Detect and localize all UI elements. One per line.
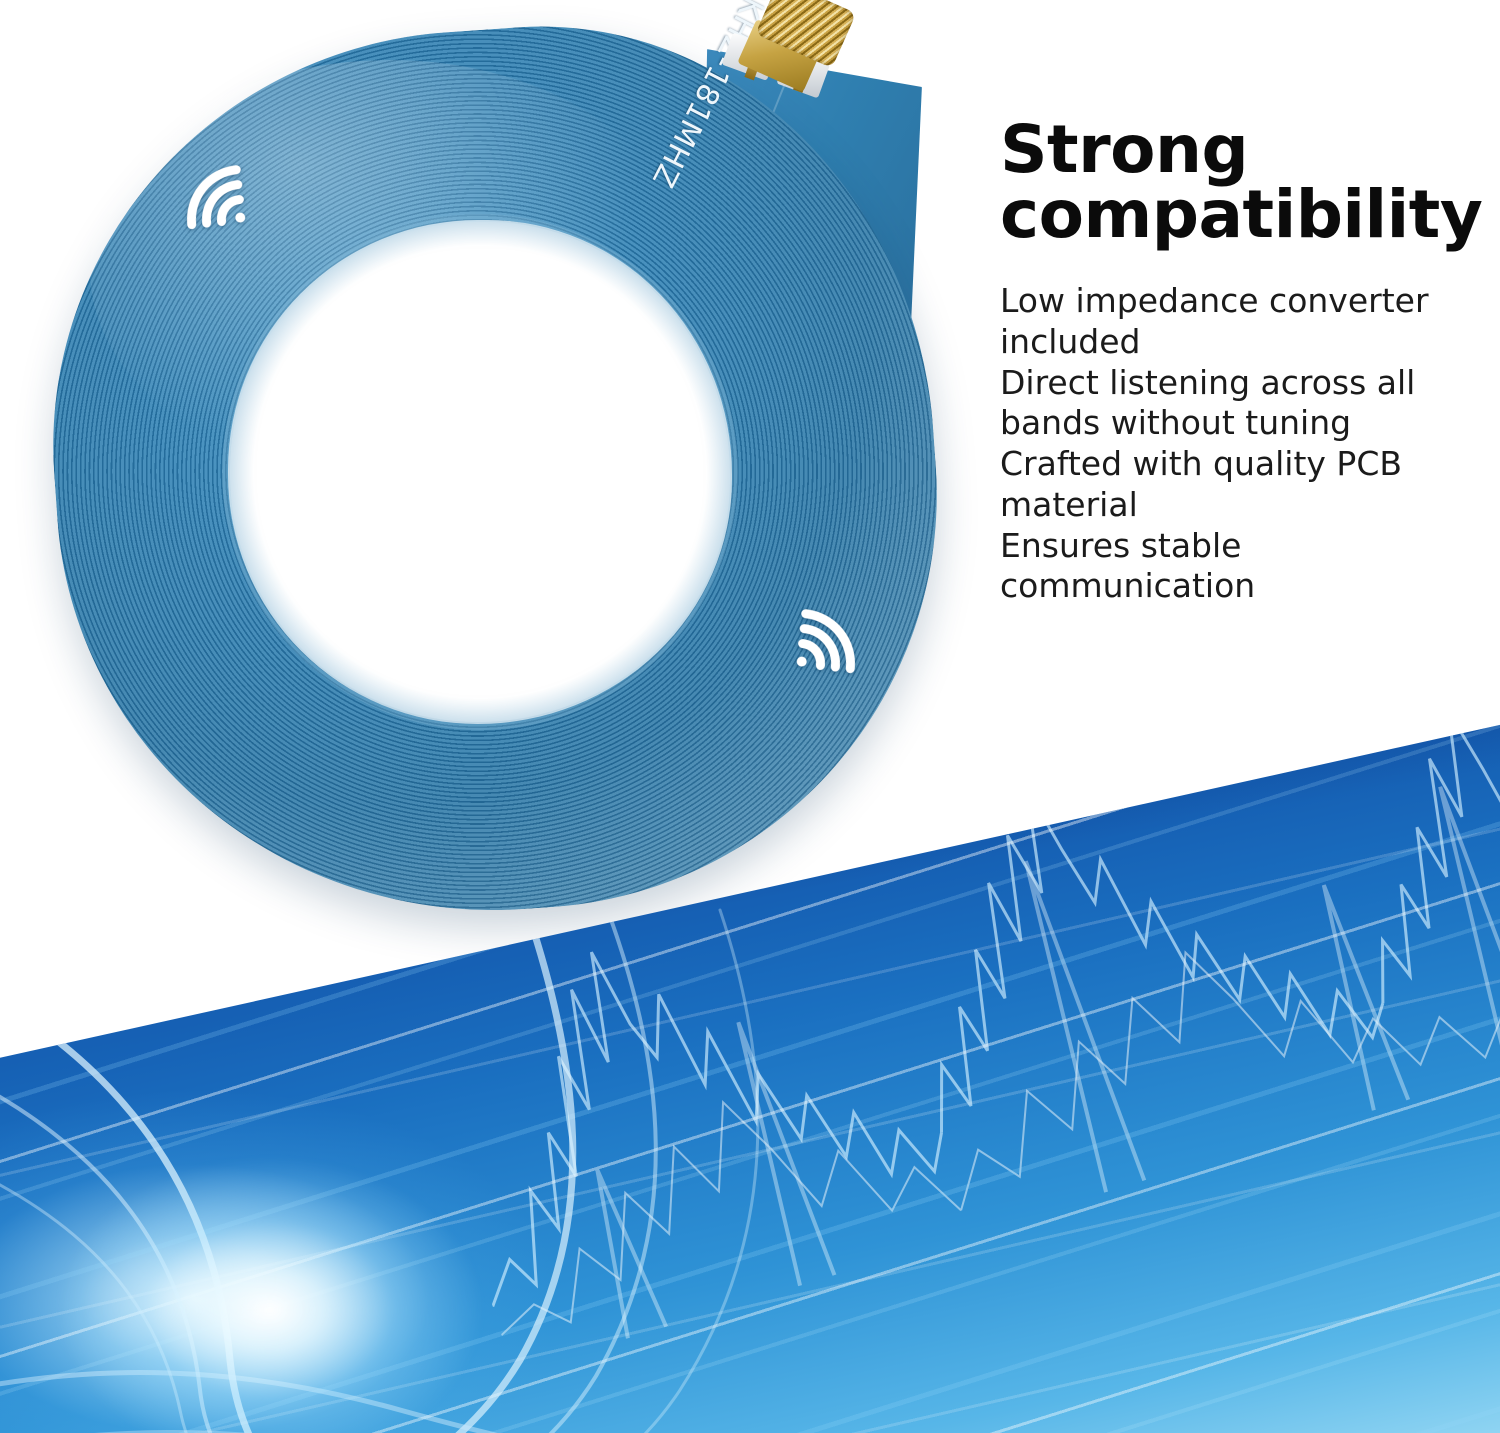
headline-line-2: compatibility bbox=[1000, 183, 1480, 248]
product-marketing-image: 9.9KHZ-181MHZ bbox=[0, 0, 1500, 1433]
list-item: Direct listening across all bands withou… bbox=[1000, 363, 1480, 444]
page-title: Strong compatibility bbox=[1000, 118, 1480, 247]
light-swirl-graphic bbox=[0, 890, 880, 1433]
wifi-signal-icon bbox=[180, 163, 252, 232]
sma-connector bbox=[718, 0, 886, 124]
marketing-copy: Strong compatibility Low impedance conve… bbox=[1000, 118, 1480, 607]
list-item: Crafted with quality PCB material bbox=[1000, 444, 1480, 525]
feature-list: Low impedance converter included Direct … bbox=[1000, 281, 1480, 606]
light-burst-glow bbox=[60, 1160, 480, 1433]
list-item: Low impedance converter included bbox=[1000, 281, 1480, 362]
pcb-inner-aperture bbox=[230, 222, 730, 722]
product-photo: 9.9KHZ-181MHZ bbox=[0, 0, 960, 950]
wifi-signal-icon bbox=[790, 607, 862, 676]
list-item: Ensures stable communication bbox=[1000, 526, 1480, 607]
